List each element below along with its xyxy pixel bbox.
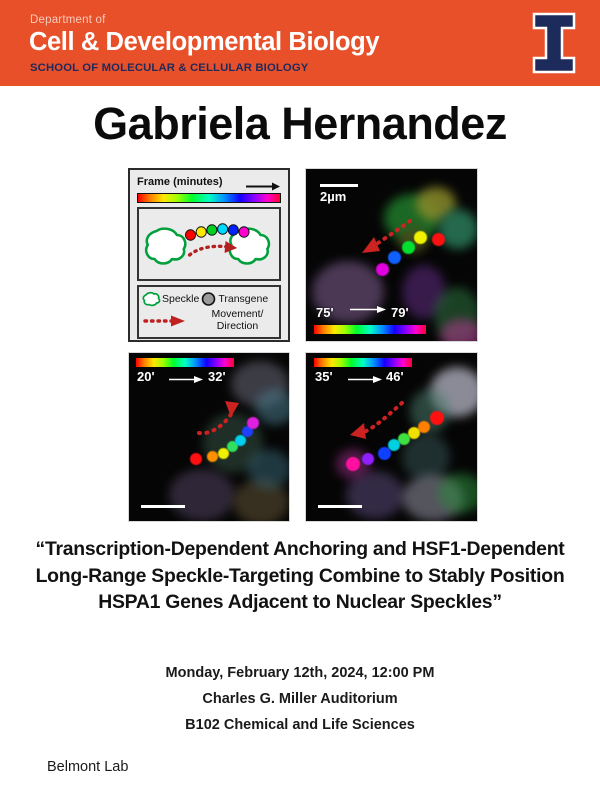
speckle-shape-left	[146, 229, 185, 264]
micrograph-panel-bottom-left: 20' 32'	[128, 352, 290, 522]
event-datetime: Monday, February 12th, 2024, 12:00 PM	[0, 660, 600, 686]
event-room: B102 Chemical and Life Sciences	[0, 712, 600, 738]
speaker-name: Gabriela Hernandez	[0, 101, 600, 146]
transgene-dot	[207, 225, 217, 235]
time-direction-arrow-bottom-right-icon	[348, 375, 382, 384]
scalebar-label: 2µm	[320, 189, 346, 204]
transgene-dot	[228, 225, 238, 235]
legend-movement-line1: Movement/	[212, 308, 264, 320]
legend-movement-label: Movement/ Direction	[198, 309, 277, 332]
time-colorbar-top-right	[314, 325, 426, 334]
transgene-dot	[218, 224, 228, 234]
schematic-scene	[137, 207, 281, 281]
end-time-label-bottom-right: 46'	[386, 369, 404, 384]
department-title: Cell & Developmental Biology	[29, 28, 379, 57]
event-venue: Charles G. Miller Auditorium	[0, 686, 600, 712]
movement-dashed-path	[190, 246, 229, 255]
time-direction-arrow-top-right-icon	[350, 305, 386, 314]
school-subtitle: SCHOOL OF MOLECULAR & CELLULAR BIOLOGY	[30, 62, 309, 74]
legend-row-movement: Movement/ Direction	[142, 309, 277, 332]
legend-speckle-label: Speckle	[162, 293, 199, 305]
end-time-label-top-right: 79'	[391, 305, 409, 320]
micrograph-image-top-right: 2µm 75' 79'	[306, 169, 477, 341]
legend-transgene-label: Transgene	[218, 293, 268, 305]
movement-legend-arrow-icon	[142, 314, 194, 328]
lab-name: Belmont Lab	[47, 759, 128, 775]
schematic-time-colorbar	[137, 193, 281, 203]
micrograph-image-bottom-right: 35' 46'	[306, 353, 477, 521]
figure-block: Frame (minutes)	[128, 168, 478, 522]
speckle-legend-icon	[142, 291, 161, 307]
schematic-diagram-panel: Frame (minutes)	[128, 168, 290, 342]
micrograph-image-bottom-left: 20' 32'	[129, 353, 289, 521]
schematic-legend: Speckle Transgene Movement/ Direction	[137, 285, 281, 339]
frame-minutes-label: Frame (minutes)	[137, 176, 223, 188]
scalebar-top-right	[320, 184, 358, 187]
legend-row-symbols: Speckle Transgene	[142, 290, 277, 307]
transgene-dot	[185, 230, 195, 240]
department-eyebrow: Department of	[30, 14, 105, 26]
legend-movement-line2: Direction	[217, 320, 258, 332]
header-banner: Department of Cell & Developmental Biolo…	[0, 0, 600, 86]
micrograph-panel-bottom-right: 35' 46'	[305, 352, 478, 522]
end-time-label-bottom-left: 32'	[208, 369, 226, 384]
time-direction-arrow-bottom-left-icon	[169, 375, 203, 384]
transgene-dot	[196, 227, 206, 237]
start-time-label-top-right: 75'	[316, 305, 334, 320]
frame-label-row: Frame (minutes)	[137, 176, 282, 191]
start-time-label-bottom-right: 35'	[315, 369, 333, 384]
scalebar-bottom-right	[318, 505, 362, 508]
scalebar-bottom-left	[141, 505, 185, 508]
schematic-scene-drawing	[139, 209, 279, 279]
transgene-legend-icon	[200, 291, 217, 307]
talk-title: “Transcription-Dependent Anchoring and H…	[32, 536, 568, 616]
start-time-label-bottom-left: 20'	[137, 369, 155, 384]
illinois-block-i-logo-icon	[530, 12, 578, 74]
event-details: Monday, February 12th, 2024, 12:00 PM Ch…	[0, 660, 600, 738]
time-colorbar-bottom-left	[136, 358, 234, 367]
transgene-dot	[239, 227, 249, 237]
micrograph-panel-top-right: 2µm 75' 79'	[305, 168, 478, 342]
time-colorbar-bottom-right	[314, 358, 412, 367]
frame-direction-arrow-icon	[246, 182, 280, 191]
